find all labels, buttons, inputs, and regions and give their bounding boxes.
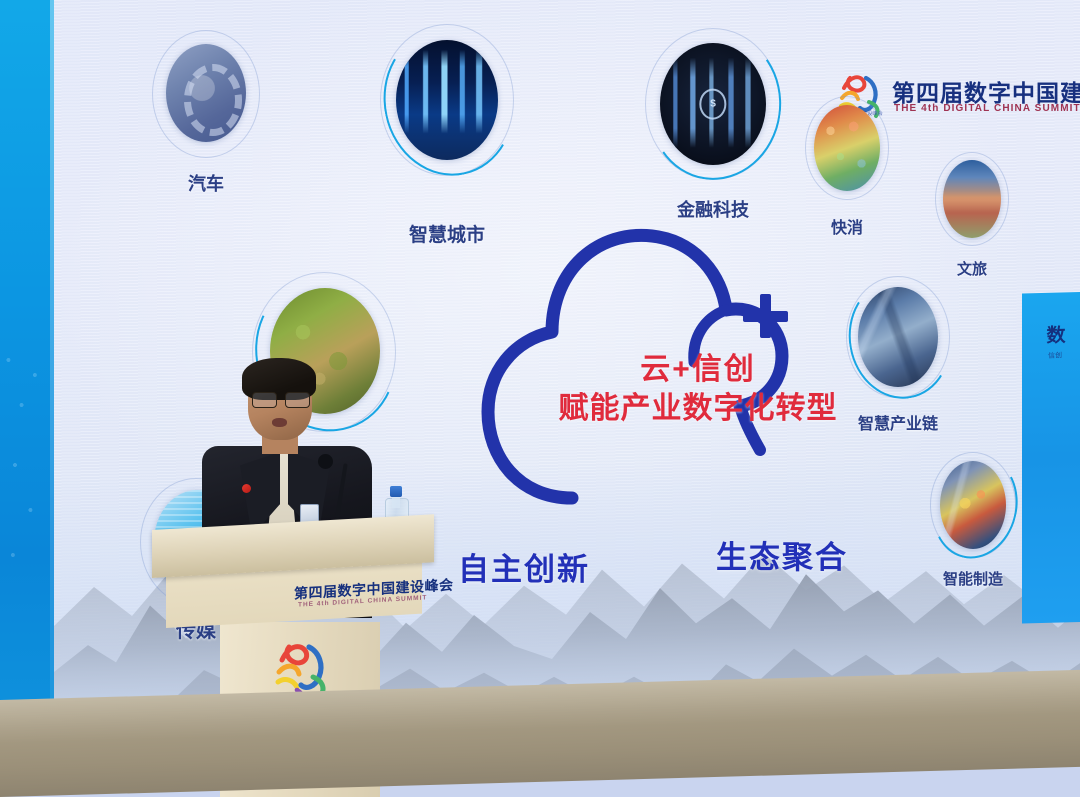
smart-industry-chain-icon	[858, 287, 938, 387]
summit-title-en: THE 4th DIGITAL CHINA SUMMIT	[894, 103, 1080, 114]
slogan-ecosystem-aggregation: 生态聚合	[716, 532, 848, 577]
bubble-label: 汽车	[188, 170, 224, 196]
slide-headline: 云+信创 赋能产业数字化转型	[548, 352, 848, 427]
side-panel-title: 数	[1036, 326, 1076, 346]
smart-city-icon	[396, 40, 498, 160]
headline-line-1: 云+信创	[548, 352, 848, 387]
right-blue-panel: 数 信创	[1022, 292, 1080, 624]
speaker-mouth	[272, 418, 287, 427]
industry-bubble-automobile[interactable]: 汽车	[152, 30, 260, 158]
industry-bubble-fintech[interactable]: $ 金融科技	[645, 28, 781, 180]
bottle-cap	[390, 486, 402, 497]
bubble-label: 快消	[831, 214, 863, 238]
bubble-label: 智慧产业链	[858, 410, 938, 434]
headline-line-2: 赋能产业数字化转型	[548, 391, 848, 426]
slogan-independent-innovation: 自主创新	[458, 544, 590, 589]
culture-tourism-icon	[943, 160, 1001, 238]
bubble-label: 文旅	[957, 258, 987, 279]
dollar-coin-icon: $	[699, 89, 726, 120]
industry-bubble-smart-city[interactable]: 智慧城市	[380, 24, 514, 176]
microphone-icon	[318, 454, 333, 469]
conference-photo: 数 信创 数字中国建设峰会 第四届数字中国建设峰会 THE 4th DIGITA…	[0, 0, 1080, 797]
automobile-icon	[166, 44, 246, 142]
fintech-icon: $	[660, 43, 766, 165]
glasses-icon	[252, 392, 310, 407]
industry-bubble-smart-industry-chain[interactable]: 智慧产业链	[846, 276, 950, 398]
industry-bubble-culture-tourism[interactable]: 文旅	[935, 152, 1009, 246]
industry-bubble-intelligent-manufacturing[interactable]: 智能制造	[930, 452, 1016, 558]
intelligent-manufacturing-icon	[940, 461, 1006, 549]
industry-bubble-fmcg[interactable]: 快消	[805, 96, 889, 200]
fmcg-icon	[814, 105, 880, 191]
bubble-label: 智能制造	[943, 568, 1003, 589]
bottle-neck	[392, 496, 400, 508]
red-lapel-pin	[242, 484, 251, 493]
panel-texture	[4, 330, 48, 630]
side-panel-subtitle: 信创	[1034, 352, 1076, 361]
left-blue-panel	[0, 0, 54, 742]
